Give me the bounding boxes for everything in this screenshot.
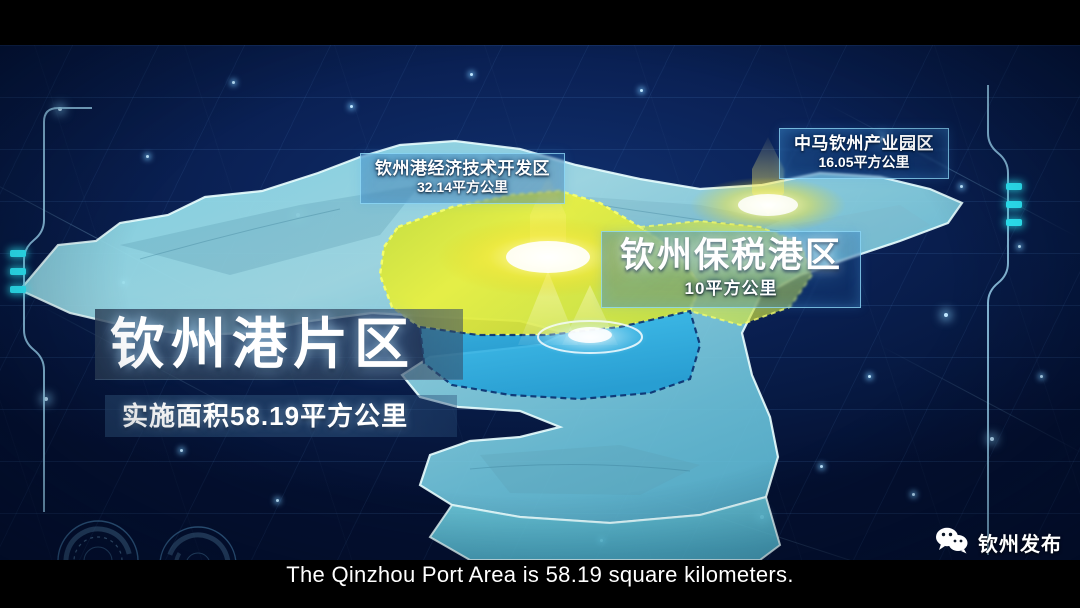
title-banner-area: 实施面积58.19平方公里 xyxy=(122,399,462,433)
zone-label-industrial-park[interactable]: 中马钦州产业园区 16.05平方公里 xyxy=(779,128,949,179)
zone-label-name: 钦州保税港区 xyxy=(620,234,842,278)
watermark: 钦州发布 xyxy=(935,526,1062,559)
watermark-label: 钦州发布 xyxy=(978,528,1062,557)
qinzhou-port-map xyxy=(0,45,1080,560)
zone-label-area: 10平方公里 xyxy=(620,278,842,299)
zone-label-name: 中马钦州产业园区 xyxy=(794,133,934,154)
wechat-icon xyxy=(935,526,969,559)
zone-label-area: 16.05平方公里 xyxy=(794,154,934,172)
title-banner-name: 钦州港片区 xyxy=(110,313,460,375)
video-content: 钦州港经济技术开发区 32.14平方公里 中马钦州产业园区 16.05平方公里 … xyxy=(0,45,1080,560)
video-frame: 钦州港经济技术开发区 32.14平方公里 中马钦州产业园区 16.05平方公里 … xyxy=(0,0,1080,608)
zone-label-area: 32.14平方公里 xyxy=(375,179,550,197)
subtitle-english: The Qinzhou Port Area is 58.19 square ki… xyxy=(0,562,1080,588)
zone-label-development[interactable]: 钦州港经济技术开发区 32.14平方公里 xyxy=(360,153,565,204)
letterbox-bar-top xyxy=(0,0,1080,45)
zone-label-name: 钦州港经济技术开发区 xyxy=(375,158,550,179)
zone-label-bonded-port[interactable]: 钦州保税港区 10平方公里 xyxy=(601,231,861,308)
